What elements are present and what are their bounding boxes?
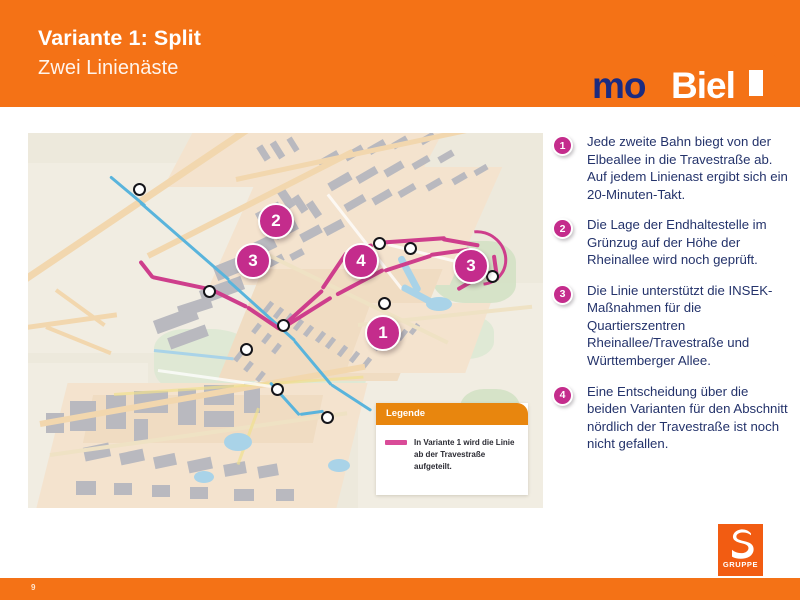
map-building [276,489,294,501]
map-pond [426,297,452,311]
map-building [152,485,170,497]
bullet-number-badge: 4 [552,385,573,406]
stop-marker[interactable] [404,242,417,255]
gruppe-logo-label: GRUPPE [718,560,763,569]
stop-marker[interactable] [378,297,391,310]
map-badge-1[interactable]: 1 [365,315,401,351]
map-legend: Legende In Variante 1 wird die Linie ab … [376,403,528,495]
legend-title: Legende [386,408,425,419]
mobiel-logo-notch [749,70,763,96]
s-swoosh-icon [718,525,763,561]
map-badge-4[interactable]: 4 [343,243,379,279]
mobiel-logo-mo: mo [592,67,646,104]
page-subtitle: Zwei Linienäste [38,57,178,80]
stop-marker[interactable] [240,343,253,356]
footer-bar [0,578,800,600]
map-building [234,489,254,501]
map-building [190,487,208,499]
slide: Variante 1: Split Zwei Linienäste mo Bie… [0,0,800,600]
mobiel-logo-biel: Biel [671,67,735,104]
gruppe-logo: GRUPPE [718,524,763,576]
bullet-text: Eine Entscheidung über die beiden Varian… [587,383,790,453]
map-badge-3-east[interactable]: 3 [453,248,489,284]
map-building [204,411,234,427]
bullet-number-badge: 2 [552,218,573,239]
stop-marker[interactable] [277,319,290,332]
map-building [114,483,132,495]
stop-marker[interactable] [321,411,334,424]
map-pond [328,459,350,472]
stop-marker[interactable] [271,383,284,396]
legend-line-swatch [385,440,407,445]
list-item: 2 Die Lage der Endhaltestelle im Grünzug… [552,216,790,269]
map-building [134,419,148,441]
stop-marker[interactable] [373,237,386,250]
stop-marker[interactable] [133,183,146,196]
bullet-text: Die Linie unterstützt die INSEK-Maßnahme… [587,282,790,370]
list-item: 1 Jede zweite Bahn biegt von der Elbeall… [552,133,790,203]
mobiel-logo: mo Biel [592,52,782,110]
map-pond [224,433,252,451]
stop-marker[interactable] [203,285,216,298]
map-badge-2[interactable]: 2 [258,203,294,239]
legend-description: In Variante 1 wird die Linie ab der Trav… [414,437,519,473]
bullet-number-badge: 1 [552,135,573,156]
map-pond [194,471,214,483]
bullet-text: Die Lage der Endhaltestelle im Grünzug a… [587,216,790,269]
legend-body: In Variante 1 wird die Linie ab der Trav… [376,425,528,473]
list-item: 3 Die Linie unterstützt die INSEK-Maßnah… [552,282,790,370]
annotations-list: 1 Jede zweite Bahn biegt von der Elbeall… [552,133,790,466]
route-map[interactable]: 1 2 3 4 3 Legende In Variante 1 wird die… [28,133,543,508]
map-badge-3-west[interactable]: 3 [235,243,271,279]
page-number: 9 [31,583,35,592]
page-title: Variante 1: Split [38,26,201,51]
bullet-text: Jede zweite Bahn biegt von der Elbeallee… [587,133,790,203]
map-building [76,481,96,495]
bullet-number-badge: 3 [552,284,573,305]
list-item: 4 Eine Entscheidung über die beiden Vari… [552,383,790,453]
